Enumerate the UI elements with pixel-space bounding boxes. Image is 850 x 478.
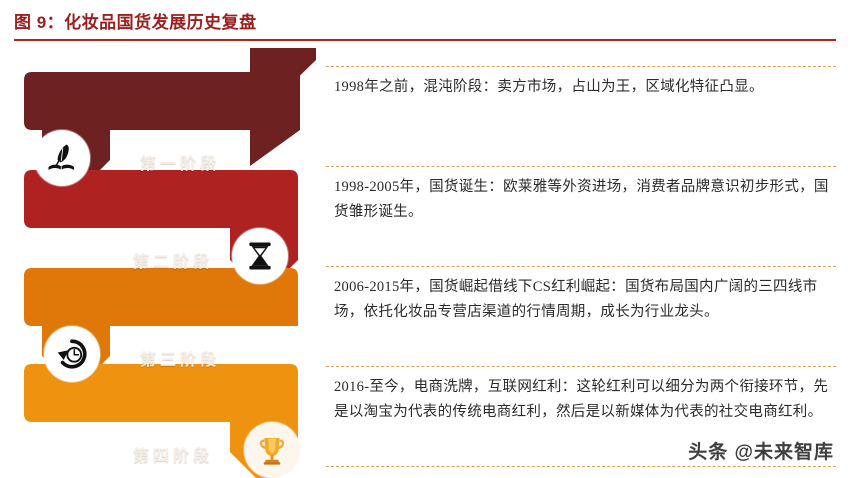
stage-label-4: 第四阶段 <box>133 442 213 466</box>
hourglass-icon <box>243 239 277 273</box>
clock-rewind-icon <box>54 336 90 372</box>
page-title: 图 9：化妆品国货发展历史复盘 <box>14 8 257 33</box>
description-text-3: 2006-2015年，国货崛起借线下CS红利崛起：国货布局国内广阔的三四线市场，… <box>334 275 830 325</box>
quill-book-icon <box>44 140 80 176</box>
stage-icon-badge-1 <box>34 130 90 186</box>
watermark: 头条 @未来智库 <box>688 437 834 464</box>
stage-label-1: 第一阶段 <box>140 150 220 174</box>
stage-icon-badge-3 <box>44 326 100 382</box>
description-column: 1998年之前，混沌阶段：卖方市场，占山为王，区域化特征凸显。 1998-200… <box>326 48 836 468</box>
description-bottom-divider <box>326 466 836 467</box>
title-divider <box>14 39 836 41</box>
trophy-icon <box>254 432 290 468</box>
stage-icon-badge-4 <box>244 422 300 478</box>
description-row: 2006-2015年，国货崛起借线下CS红利崛起：国货布局国内广阔的三四线市场，… <box>326 266 836 366</box>
description-row: 1998年之前，混沌阶段：卖方市场，占山为王，区域化特征凸显。 <box>326 66 836 166</box>
description-text-4: 2016-至今，电商洗牌，互联网红利：这轮红利可以细分为两个衔接环节，先是以淘宝… <box>334 375 830 425</box>
timeline-diagram: 第一阶段 第二阶段 第三阶段 第四阶段 <box>0 48 850 478</box>
description-row: 1998-2005年，国货诞生：欧莱雅等外资进场，消费者品牌意识初步形式，国货雏… <box>326 166 836 266</box>
stage-label-2: 第二阶段 <box>133 248 213 272</box>
stage-banner-column: 第一阶段 第二阶段 第三阶段 第四阶段 <box>0 48 322 468</box>
stage-label-3: 第三阶段 <box>140 346 220 370</box>
description-text-2: 1998-2005年，国货诞生：欧莱雅等外资进场，消费者品牌意识初步形式，国货雏… <box>334 175 830 225</box>
description-text-1: 1998年之前，混沌阶段：卖方市场，占山为王，区域化特征凸显。 <box>334 75 830 100</box>
figure-header: 图 9：化妆品国货发展历史复盘 <box>0 0 850 46</box>
stage-icon-badge-2 <box>232 228 288 284</box>
